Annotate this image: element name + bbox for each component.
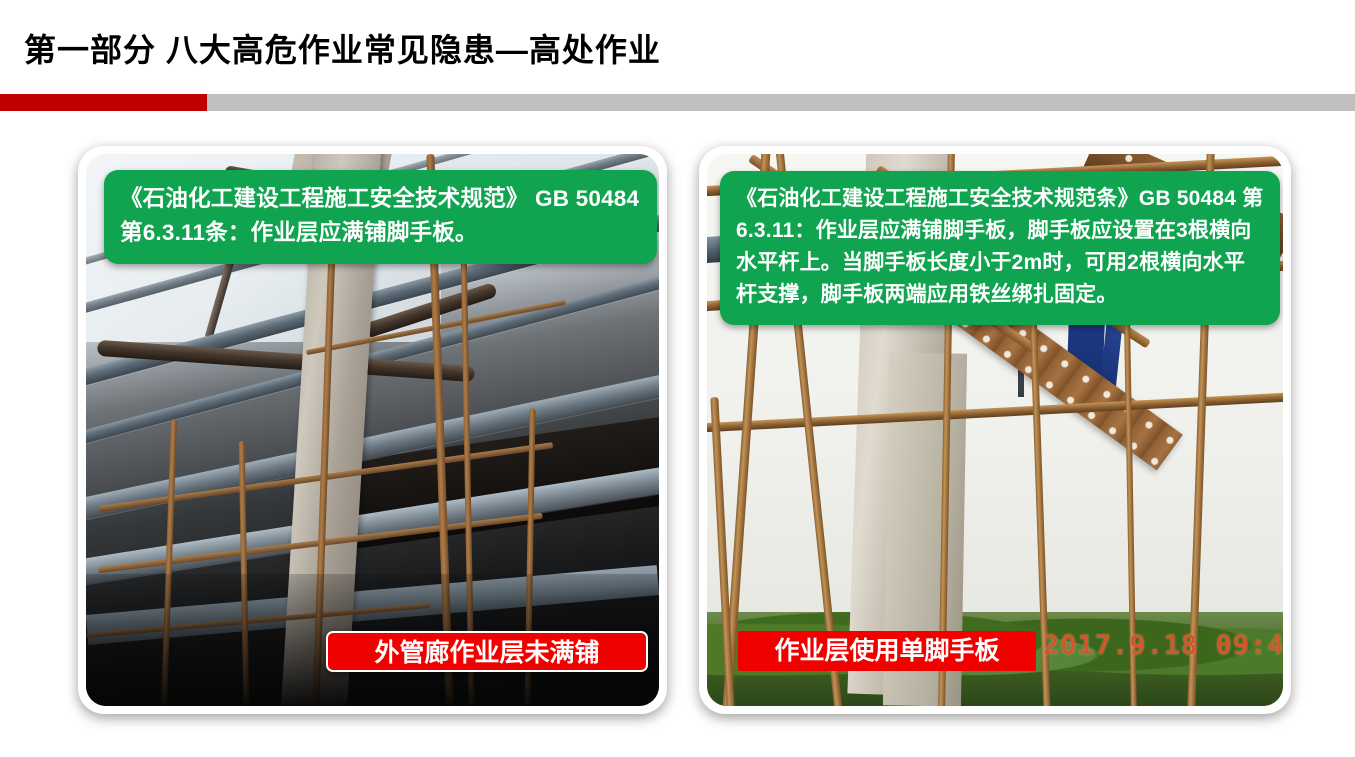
photo-left: 《石油化工建设工程施工安全技术规范》 GB 50484 第6.3.11条：作业层…	[86, 154, 659, 706]
slide-root: 第一部分 八大高危作业常见隐患—高处作业	[0, 0, 1355, 757]
photo-caption-left: 外管廊作业层未满铺	[326, 631, 648, 672]
page-title: 第一部分 八大高危作业常见隐患—高处作业	[24, 33, 661, 68]
divider-accent-segment	[0, 94, 207, 111]
divider-track-segment	[207, 94, 1355, 111]
photo-right: 《石油化工建设工程施工安全技术规范条》GB 50484 第6.3.11：作业层应…	[707, 154, 1283, 706]
title-divider-bar	[0, 94, 1355, 111]
regulation-callout-right: 《石油化工建设工程施工安全技术规范条》GB 50484 第6.3.11：作业层应…	[720, 171, 1280, 325]
photo-card-left[interactable]: 《石油化工建设工程施工安全技术规范》 GB 50484 第6.3.11条：作业层…	[78, 146, 667, 714]
camera-timestamp: 2017.9.18 09:45	[1043, 630, 1283, 661]
photo-caption-right: 作业层使用单脚手板	[738, 631, 1036, 671]
regulation-callout-left: 《石油化工建设工程施工安全技术规范》 GB 50484 第6.3.11条：作业层…	[104, 170, 657, 264]
photo-card-right[interactable]: 《石油化工建设工程施工安全技术规范条》GB 50484 第6.3.11：作业层应…	[699, 146, 1291, 714]
